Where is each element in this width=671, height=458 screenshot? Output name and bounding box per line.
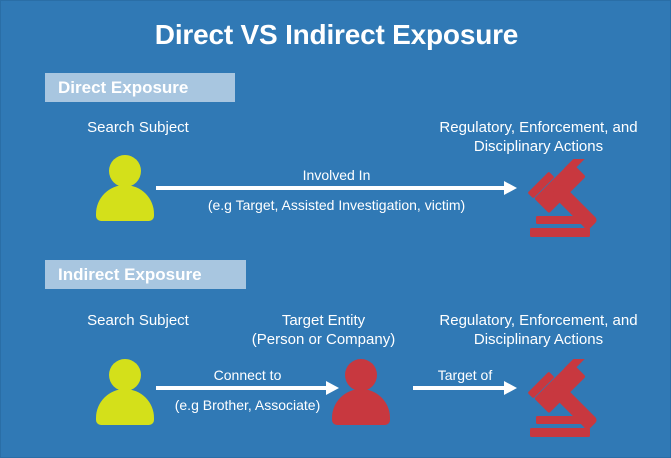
caption-line: (Person or Company) — [246, 330, 401, 349]
caption-line: Disciplinary Actions — [411, 330, 666, 349]
person-icon — [330, 359, 392, 425]
caption-line: Search Subject — [58, 118, 218, 137]
caption-line: Disciplinary Actions — [411, 137, 666, 156]
person-head — [109, 359, 141, 391]
diagram-canvas: Direct VS Indirect Exposure Direct Expos… — [0, 0, 671, 458]
person-icon — [94, 359, 156, 425]
caption-target-entity: Target Entity (Person or Company) — [246, 311, 401, 349]
person-head — [345, 359, 377, 391]
caption-actions-direct: Regulatory, Enforcement, and Disciplinar… — [411, 118, 666, 156]
section-band-indirect: Indirect Exposure — [45, 260, 246, 289]
arrow-label-above-connect-to: Connect to — [156, 367, 339, 383]
section-band-direct: Direct Exposure — [45, 73, 235, 102]
person-body — [96, 185, 154, 221]
arrow-label-above-involved-in: Involved In — [156, 167, 517, 183]
arrow-head — [504, 381, 517, 395]
caption-line: Regulatory, Enforcement, and — [411, 311, 666, 330]
arrow-shaft — [413, 386, 504, 390]
gavel-icon — [522, 359, 618, 443]
gavel-icon-svg — [522, 159, 618, 243]
arrow-indirect-connect-to — [156, 384, 339, 391]
arrow-indirect-target-of — [413, 384, 517, 391]
person-icon — [94, 155, 156, 221]
arrow-head — [326, 381, 339, 395]
page-title: Direct VS Indirect Exposure — [1, 19, 671, 51]
caption-line: Target Entity — [246, 311, 401, 330]
arrow-shaft — [156, 186, 504, 190]
arrow-shaft — [156, 386, 326, 390]
person-body — [96, 389, 154, 425]
section-band-indirect-label: Indirect Exposure — [58, 265, 202, 285]
arrow-direct-involved-in — [156, 184, 517, 191]
caption-line: Search Subject — [58, 311, 218, 330]
caption-search-subject-indirect: Search Subject — [58, 311, 218, 330]
caption-line: Regulatory, Enforcement, and — [411, 118, 666, 137]
section-band-direct-label: Direct Exposure — [58, 78, 188, 98]
gavel-icon-svg — [522, 359, 618, 443]
arrow-label-below-connect-to: (e.g Brother, Associate) — [149, 397, 346, 413]
gavel-icon — [522, 159, 618, 243]
person-head — [109, 155, 141, 187]
arrow-label-below-involved-in: (e.g Target, Assisted Investigation, vic… — [156, 197, 517, 213]
caption-actions-indirect: Regulatory, Enforcement, and Disciplinar… — [411, 311, 666, 349]
arrow-head — [504, 181, 517, 195]
arrow-label-above-target-of: Target of — [413, 367, 517, 383]
caption-search-subject-direct: Search Subject — [58, 118, 218, 137]
